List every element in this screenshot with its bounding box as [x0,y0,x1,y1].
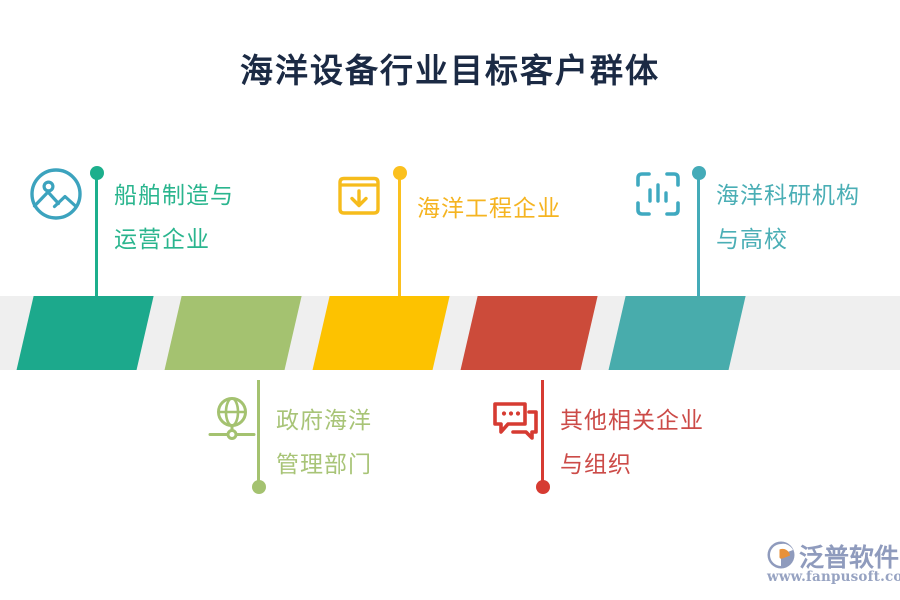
bar-chart-frame-icon [630,166,686,222]
item-label-line: 与组织 [560,443,704,487]
infographic-canvas: 海洋设备行业目标客户群体 船舶制造与 运营企业 [0,0,900,600]
item-label: 海洋工程企业 [417,187,561,231]
connector-line [90,166,104,296]
stripe-amber [311,296,451,370]
image-photo-icon [28,166,84,222]
stripe-blue-teal [607,296,747,370]
page-title: 海洋设备行业目标客户群体 [0,44,900,92]
item-label-line: 海洋工程企业 [417,187,561,231]
box-download-icon [331,166,387,222]
item-label-line: 运营企业 [114,218,234,262]
stripe-olive-green [163,296,303,370]
diagonal-stripe-band [0,296,900,370]
item-label: 海洋科研机构 与高校 [716,174,860,262]
item-label-line: 海洋科研机构 [716,174,860,218]
item-label-line: 船舶制造与 [114,174,234,218]
item-label: 政府海洋 管理部门 [276,399,372,487]
stripe-red [459,296,599,370]
logo-url: www.fanpusoft.com [767,569,900,585]
item-label-line: 管理部门 [276,443,372,487]
item-label: 船舶制造与 运营企业 [114,174,234,262]
stripe-teal-green [15,296,155,370]
connector-line [252,380,266,494]
fanpu-logo-mark-icon [766,540,796,570]
item-label-line: 政府海洋 [276,399,372,443]
connector-line [692,166,706,296]
brand-logo: 泛普软件 www.fanpusoft.com [766,538,896,588]
item-label-line: 与高校 [716,218,860,262]
item-label: 其他相关企业 与组织 [560,399,704,487]
connector-line [393,166,407,296]
item-label-line: 其他相关企业 [560,399,704,443]
connector-line [536,380,550,494]
